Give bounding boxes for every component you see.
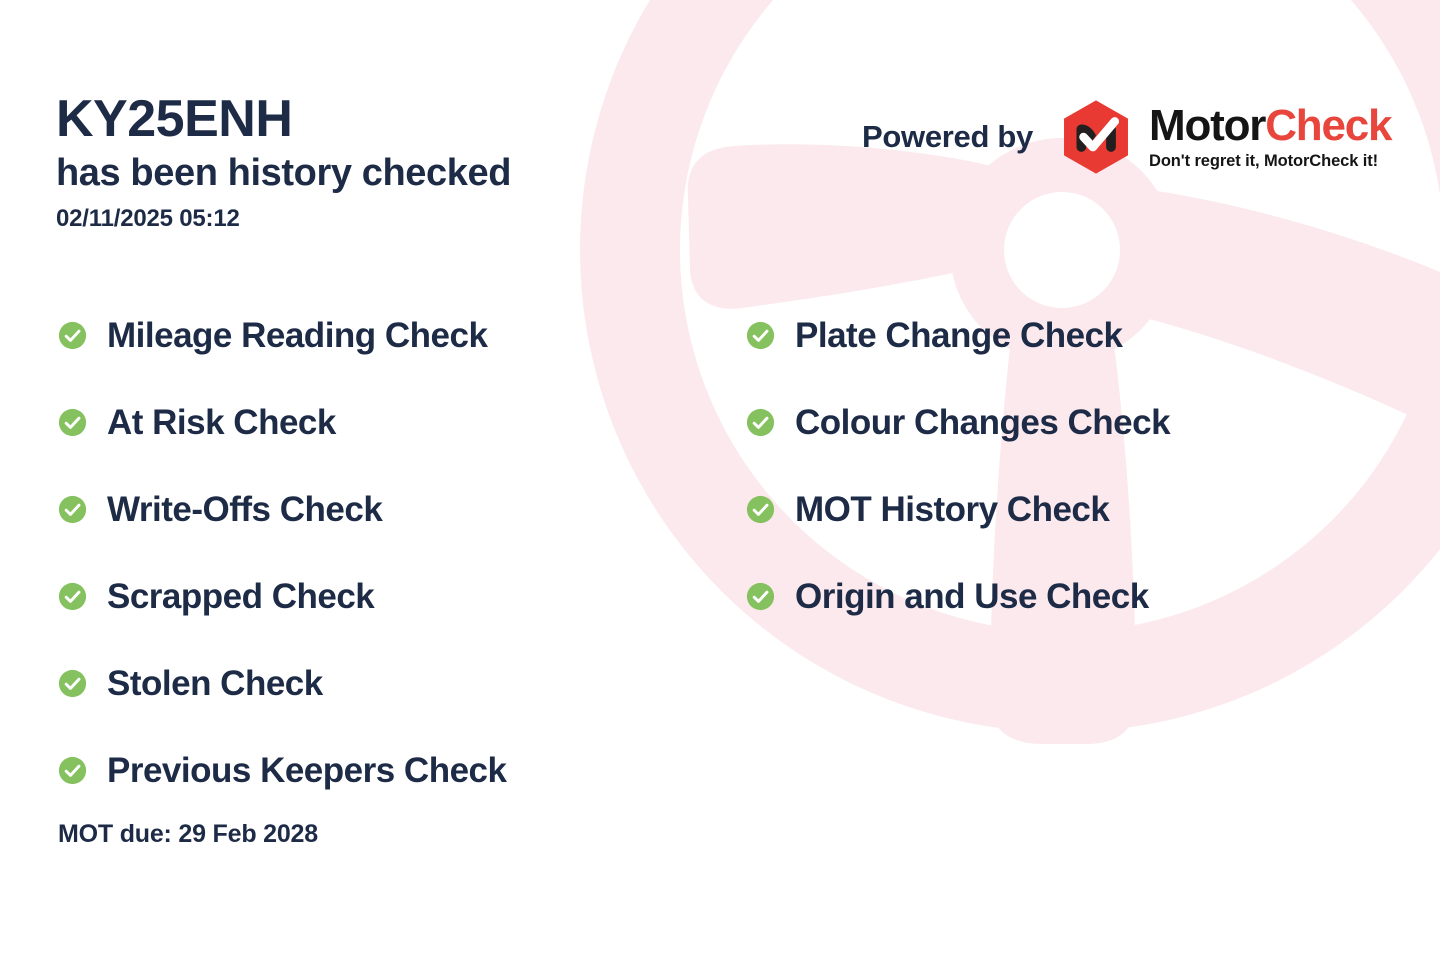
check-circle-icon — [58, 669, 87, 698]
check-circle-icon — [58, 582, 87, 611]
check-circle-icon — [746, 408, 775, 437]
brand-tagline: Don't regret it, MotorCheck it! — [1149, 152, 1391, 171]
headline-text: has been history checked — [56, 152, 696, 196]
registration-plate: KY25ENH — [56, 92, 696, 146]
check-label: Plate Change Check — [795, 318, 1123, 353]
check-item: Previous Keepers Check — [58, 727, 506, 814]
motorcheck-logo[interactable]: MotorCheck Don't regret it, MotorCheck i… — [1057, 98, 1391, 176]
history-check-graphic: KY25ENH has been history checked 02/11/2… — [0, 0, 1440, 960]
wordmark-check: Check — [1265, 101, 1391, 150]
check-label: Mileage Reading Check — [107, 318, 487, 353]
checks-column-left: Mileage Reading Check At Risk Check Writ… — [58, 292, 506, 814]
check-label: Colour Changes Check — [795, 405, 1170, 440]
powered-by-label: Powered by — [862, 119, 1033, 155]
check-label: Write-Offs Check — [107, 492, 382, 527]
wordmark-motor: Motor — [1149, 101, 1265, 150]
check-label: At Risk Check — [107, 405, 336, 440]
check-item: At Risk Check — [58, 379, 506, 466]
powered-by-lockup: Powered by MotorCheck Don't regret it, M… — [862, 98, 1391, 176]
check-circle-icon — [58, 408, 87, 437]
mot-due-text: MOT due: 29 Feb 2028 — [58, 820, 318, 849]
check-item: Scrapped Check — [58, 553, 506, 640]
check-circle-icon — [58, 756, 87, 785]
motorcheck-wordmark: MotorCheck Don't regret it, MotorCheck i… — [1149, 104, 1391, 171]
check-item: Write-Offs Check — [58, 466, 506, 553]
check-item: MOT History Check — [746, 466, 1170, 553]
check-label: Stolen Check — [107, 666, 323, 701]
check-label: MOT History Check — [795, 492, 1109, 527]
check-circle-icon — [58, 495, 87, 524]
report-header: KY25ENH has been history checked 02/11/2… — [56, 92, 696, 234]
check-label: Previous Keepers Check — [107, 753, 506, 788]
check-item: Colour Changes Check — [746, 379, 1170, 466]
check-item: Stolen Check — [58, 640, 506, 727]
check-circle-icon — [746, 582, 775, 611]
check-circle-icon — [746, 321, 775, 350]
check-circle-icon — [58, 321, 87, 350]
check-item: Mileage Reading Check — [58, 292, 506, 379]
check-label: Scrapped Check — [107, 579, 374, 614]
check-timestamp: 02/11/2025 05:12 — [56, 205, 696, 234]
check-circle-icon — [746, 495, 775, 524]
check-item: Plate Change Check — [746, 292, 1170, 379]
check-item: Origin and Use Check — [746, 553, 1170, 640]
check-label: Origin and Use Check — [795, 579, 1149, 614]
motorcheck-hexagon-logo — [1057, 98, 1135, 176]
checks-column-right: Plate Change Check Colour Changes Check … — [746, 292, 1170, 640]
